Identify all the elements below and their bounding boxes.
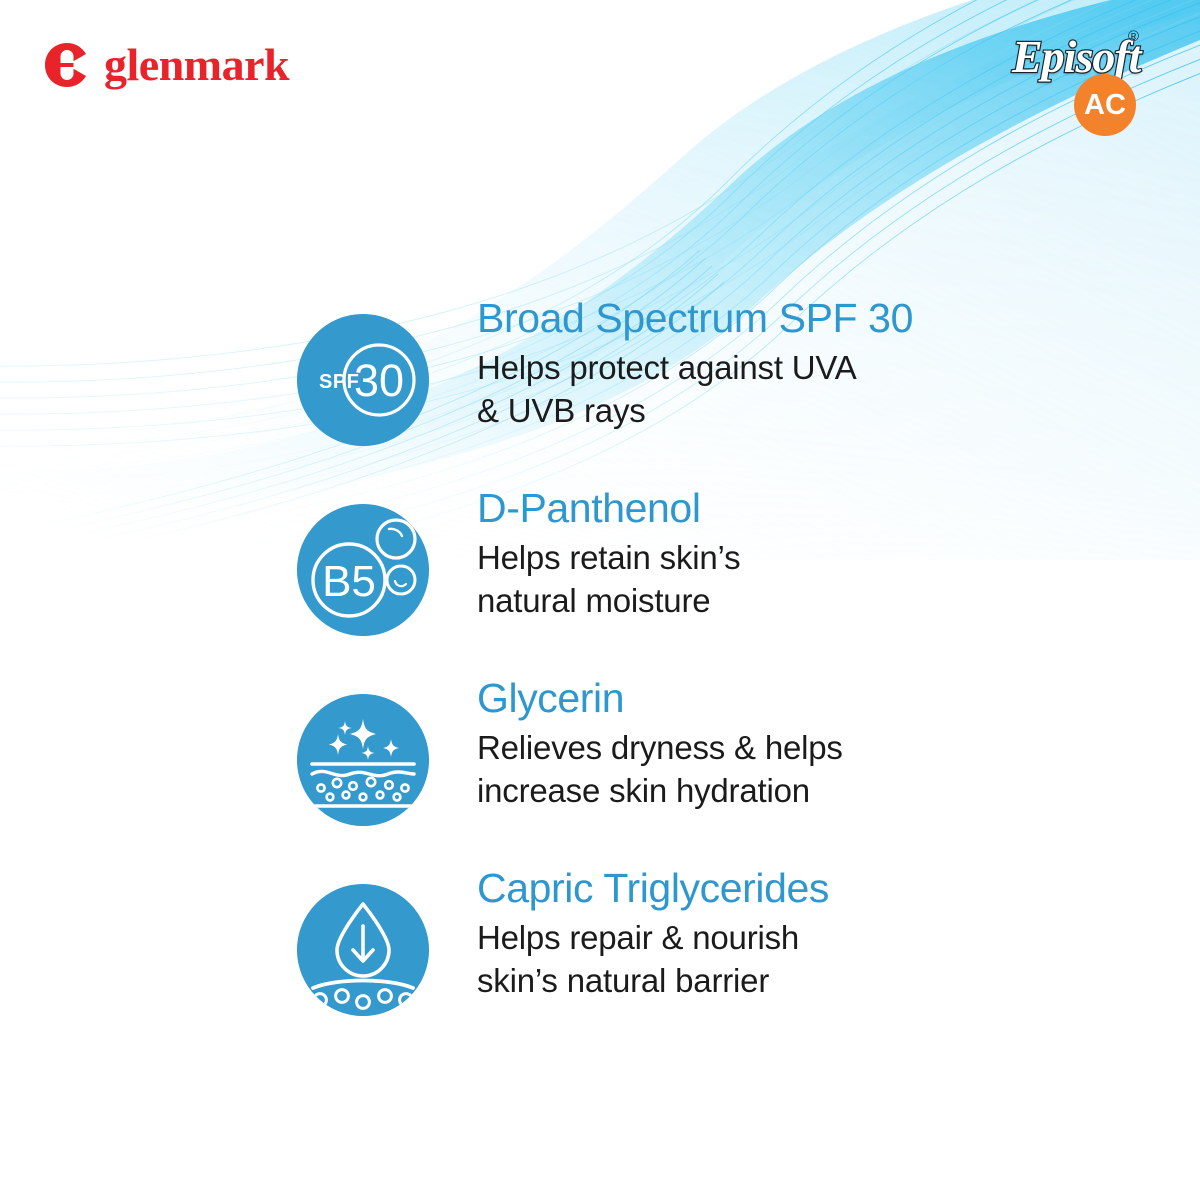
episoft-wordmark: Episoft bbox=[1012, 34, 1140, 80]
feature-item-d-panthenol: B5 D-Panthenol Helps retain skin’s natur… bbox=[297, 486, 1097, 676]
droplet-skin-barrier-icon bbox=[297, 884, 429, 1016]
spf-30-icon: SPF 30 bbox=[297, 314, 429, 446]
feature-description: Helps protect against UVA & UVB rays bbox=[477, 346, 913, 433]
b5-icon-label: B5 bbox=[322, 557, 376, 606]
feature-text-glycerin: Glycerin Relieves dryness & helps increa… bbox=[477, 676, 843, 813]
feature-title: Capric Triglycerides bbox=[477, 866, 829, 912]
feature-text-d-panthenol: D-Panthenol Helps retain skin’s natural … bbox=[477, 486, 740, 623]
spf-icon-label-large: 30 bbox=[354, 355, 404, 406]
feature-title: Glycerin bbox=[477, 676, 843, 722]
feature-description: Helps retain skin’s natural moisture bbox=[477, 536, 740, 623]
feature-text-spf30: Broad Spectrum SPF 30 Helps protect agai… bbox=[477, 296, 913, 433]
feature-title: Broad Spectrum SPF 30 bbox=[477, 296, 913, 342]
feature-description: Helps repair & nourish skin’s natural ba… bbox=[477, 916, 829, 1003]
glenmark-logo: glenmark bbox=[44, 42, 289, 88]
feature-description: Relieves dryness & helps increase skin h… bbox=[477, 726, 843, 813]
feature-list: SPF 30 Broad Spectrum SPF 30 Helps prote… bbox=[297, 296, 1097, 1056]
b5-bubbles-icon: B5 bbox=[297, 504, 429, 636]
glenmark-g-capsule-icon bbox=[44, 42, 90, 88]
feature-title: D-Panthenol bbox=[477, 486, 740, 532]
sparkle-skin-hydration-icon bbox=[297, 694, 429, 826]
feature-text-capric-triglycerides: Capric Triglycerides Helps repair & nour… bbox=[477, 866, 829, 1003]
feature-item-capric-triglycerides: Capric Triglycerides Helps repair & nour… bbox=[297, 866, 1097, 1056]
product-feature-poster: glenmark Episoft ® AC SPF 30 Broad Spect… bbox=[0, 0, 1200, 1200]
episoft-ac-badge: AC bbox=[1074, 74, 1136, 136]
episoft-ac-logo: Episoft ® AC bbox=[1012, 22, 1162, 137]
registered-trademark-icon: ® bbox=[1128, 28, 1139, 45]
glenmark-wordmark: glenmark bbox=[104, 42, 289, 88]
feature-item-glycerin: Glycerin Relieves dryness & helps increa… bbox=[297, 676, 1097, 866]
feature-item-spf30: SPF 30 Broad Spectrum SPF 30 Helps prote… bbox=[297, 296, 1097, 486]
